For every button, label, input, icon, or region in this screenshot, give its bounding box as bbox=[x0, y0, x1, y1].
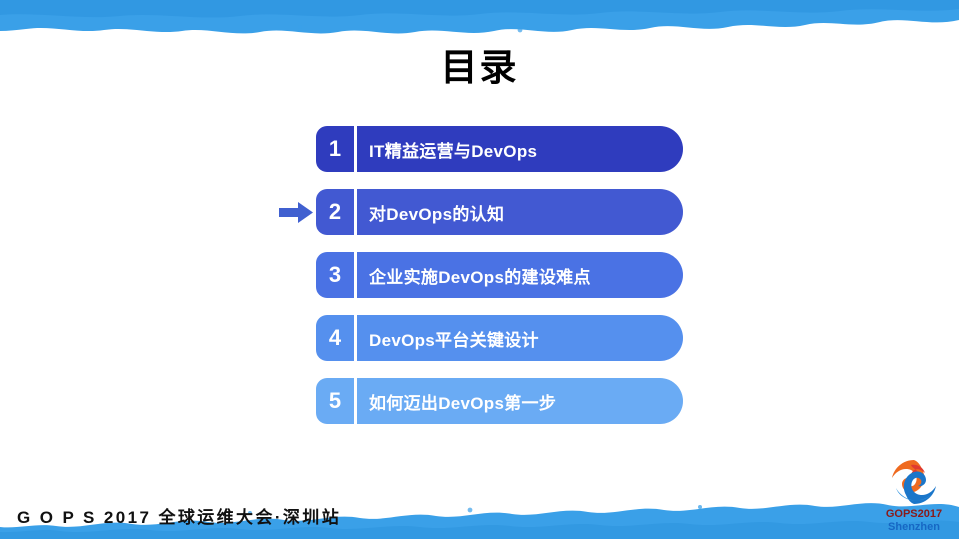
agenda-number-badge-3: 3 bbox=[316, 252, 354, 298]
agenda-pill-3[interactable]: 企业实施DevOps的建设难点 bbox=[357, 252, 683, 298]
agenda-pill-2[interactable]: 对DevOps的认知 bbox=[357, 189, 683, 235]
agenda-number-badge-5: 5 bbox=[316, 378, 354, 424]
agenda-number-badge-4: 4 bbox=[316, 315, 354, 361]
agenda-item-2[interactable]: 2 对DevOps的认知 bbox=[0, 189, 959, 235]
gops-logo: GOPS2017 Shenzhen bbox=[877, 457, 951, 535]
agenda-label-3: 企业实施DevOps的建设难点 bbox=[357, 263, 591, 288]
agenda-label-2: 对DevOps的认知 bbox=[357, 200, 504, 225]
agenda-number-badge-1: 1 bbox=[316, 126, 354, 172]
logo-text-shenzhen: Shenzhen bbox=[877, 521, 951, 534]
agenda-number-5: 5 bbox=[329, 390, 341, 412]
agenda-label-1: IT精益运营与DevOps bbox=[357, 137, 537, 162]
agenda-item-4[interactable]: 4 DevOps平台关键设计 bbox=[0, 315, 959, 361]
agenda-number-1: 1 bbox=[329, 138, 341, 160]
footer-brand-text: G O P S 2017 全球运维大会·深圳站 bbox=[17, 503, 341, 528]
agenda-list: 1 IT精益运营与DevOps 2 对DevOps的认知 3 bbox=[0, 126, 959, 424]
agenda-item-3[interactable]: 3 企业实施DevOps的建设难点 bbox=[0, 252, 959, 298]
agenda-number-badge-2: 2 bbox=[316, 189, 354, 235]
top-decorative-band bbox=[0, 0, 959, 42]
agenda-pill-1[interactable]: IT精益运营与DevOps bbox=[357, 126, 683, 172]
agenda-number-2: 2 bbox=[329, 201, 341, 223]
agenda-item-5[interactable]: 5 如何迈出DevOps第一步 bbox=[0, 378, 959, 424]
agenda-label-4: DevOps平台关键设计 bbox=[357, 326, 539, 351]
agenda-item-1[interactable]: 1 IT精益运营与DevOps bbox=[0, 126, 959, 172]
current-section-arrow-icon bbox=[279, 202, 313, 223]
agenda-pill-5[interactable]: 如何迈出DevOps第一步 bbox=[357, 378, 683, 424]
page-title: 目录 bbox=[0, 48, 959, 89]
agenda-label-5: 如何迈出DevOps第一步 bbox=[357, 389, 556, 414]
agenda-pill-4[interactable]: DevOps平台关键设计 bbox=[357, 315, 683, 361]
agenda-number-4: 4 bbox=[329, 327, 341, 349]
gops-logo-emblem-icon bbox=[887, 457, 941, 507]
logo-text-gops2017: GOPS2017 bbox=[877, 508, 951, 521]
agenda-number-3: 3 bbox=[329, 264, 341, 286]
slide-canvas: 目录 1 IT精益运营与DevOps 2 对DevOps的认知 bbox=[0, 0, 959, 539]
